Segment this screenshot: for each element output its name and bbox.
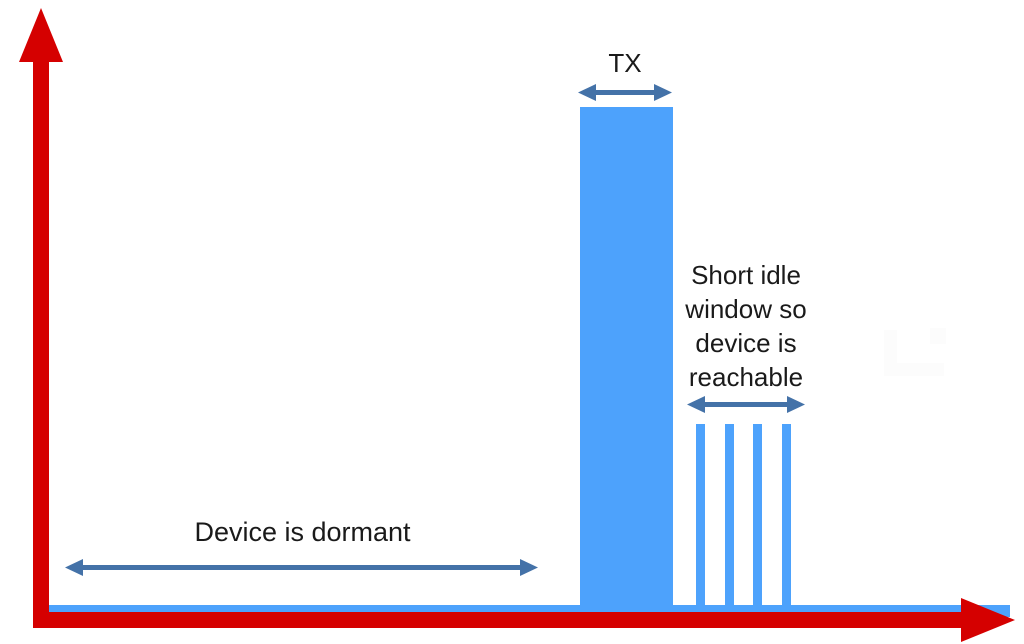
tx-label: TX [560,46,690,80]
idle-span-arrow [687,396,805,413]
diagram-canvas: TX Short idle window so device is reacha… [0,0,1024,644]
dormant-span-arrow [65,559,538,576]
idle-window-label: Short idle window so device is reachable [660,258,832,394]
dormant-label: Device is dormant [130,515,475,549]
tx-span-arrow [578,84,672,101]
